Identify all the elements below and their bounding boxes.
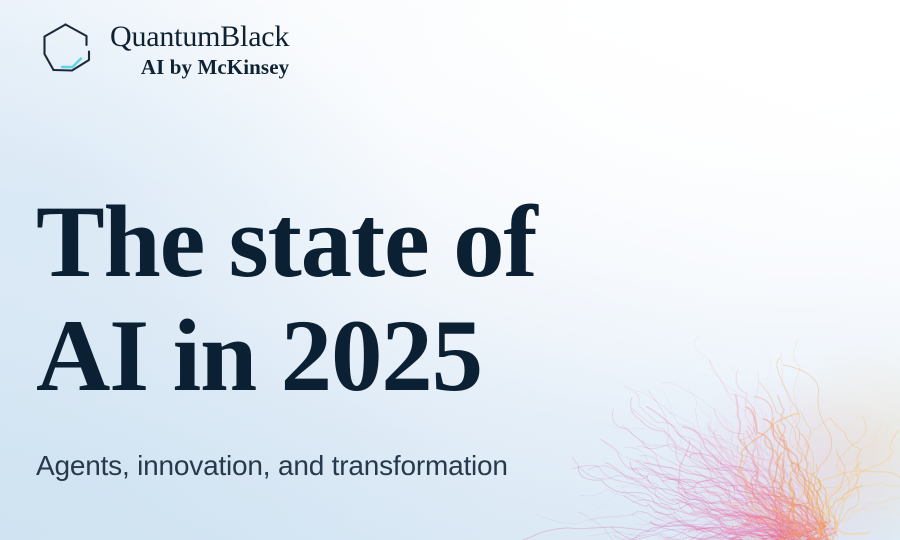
title-line-1: The state of: [36, 192, 676, 294]
page-title: The state of AI in 2025: [36, 192, 676, 408]
quantumblack-logo[interactable]: QuantumBlack AI by McKinsey: [36, 20, 289, 80]
hexagon-logo-icon: [36, 20, 98, 80]
title-line-2: AI in 2025: [36, 306, 676, 408]
brand-tagline: AI by McKinsey: [141, 57, 289, 78]
logo-wordmark: QuantumBlack AI by McKinsey: [110, 22, 289, 78]
page-subtitle: Agents, innovation, and transformation: [36, 450, 508, 482]
report-cover: QuantumBlack AI by McKinsey The state of…: [0, 0, 900, 540]
brand-name: QuantumBlack: [110, 22, 289, 52]
